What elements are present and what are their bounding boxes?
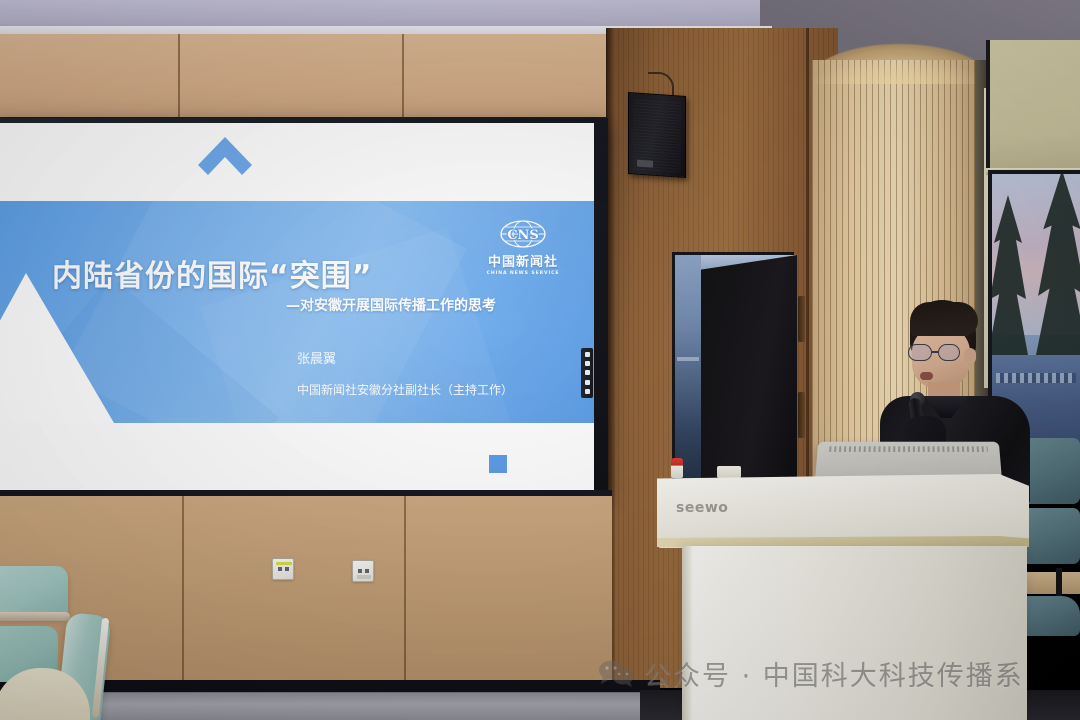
presentation-display[interactable]: CNS 中国新闻社 CHINA NEWS SERVICE 内陆省份的国际“突围”… (0, 123, 594, 491)
desk-object (717, 466, 741, 478)
cns-name-cn: 中国新闻社 (480, 255, 566, 270)
slide-presenter-affiliation: 中国新闻社安徽分社副社长（主持工作） (297, 381, 513, 398)
display-button[interactable] (585, 361, 590, 366)
chevron-up-icon (194, 131, 256, 193)
wall-outlet-left[interactable] (272, 558, 294, 580)
door-hinge (798, 392, 805, 438)
glasses-icon (908, 344, 972, 361)
door-leaf (701, 255, 797, 499)
slide-presenter-name: 张晨翼 (297, 348, 336, 367)
cns-name-en: CHINA NEWS SERVICE (480, 270, 566, 277)
audience-chair (0, 566, 68, 618)
window-roller-blind (986, 40, 1080, 174)
monitor-vents (829, 446, 988, 452)
podium-body (682, 546, 1027, 720)
door-hinge (798, 296, 805, 342)
display-control-buttons[interactable] (581, 348, 593, 398)
display-button[interactable] (585, 389, 590, 394)
slide-title: 内陆省份的国际“突围” (52, 251, 372, 295)
display-button[interactable] (585, 352, 590, 357)
wall-speaker (628, 92, 686, 178)
cns-globe-icon: CNS (499, 219, 547, 249)
cove-light-glow (812, 58, 987, 84)
chair-armrest (0, 612, 70, 621)
water-bottle (671, 458, 683, 478)
slide-subtitle: —对安徽开展国际传播工作的思考 (286, 295, 496, 315)
slide-accent-square (489, 455, 507, 473)
svg-text:CNS: CNS (507, 228, 539, 243)
upper-wood-wall (0, 34, 620, 124)
display-button[interactable] (585, 380, 590, 385)
hair-fringe (910, 302, 978, 336)
mountain-motif-icon (0, 273, 114, 423)
slide-top-area (0, 123, 594, 201)
slide-canvas: CNS 中国新闻社 CHINA NEWS SERVICE 内陆省份的国际“突围”… (0, 123, 594, 491)
wall-outlet-right[interactable] (352, 560, 374, 582)
cns-logo: CNS 中国新闻社 CHINA NEWS SERVICE (480, 219, 566, 281)
mouth (920, 372, 933, 380)
display-button[interactable] (585, 370, 590, 375)
open-door[interactable] (672, 252, 794, 502)
podium-left-edge (682, 546, 692, 720)
podium-brand-logo: seewo (676, 500, 728, 516)
screenshot-scene: CNS 中国新闻社 CHINA NEWS SERVICE 内陆省份的国际“突围”… (0, 0, 1080, 720)
speaker-badge (637, 160, 653, 168)
